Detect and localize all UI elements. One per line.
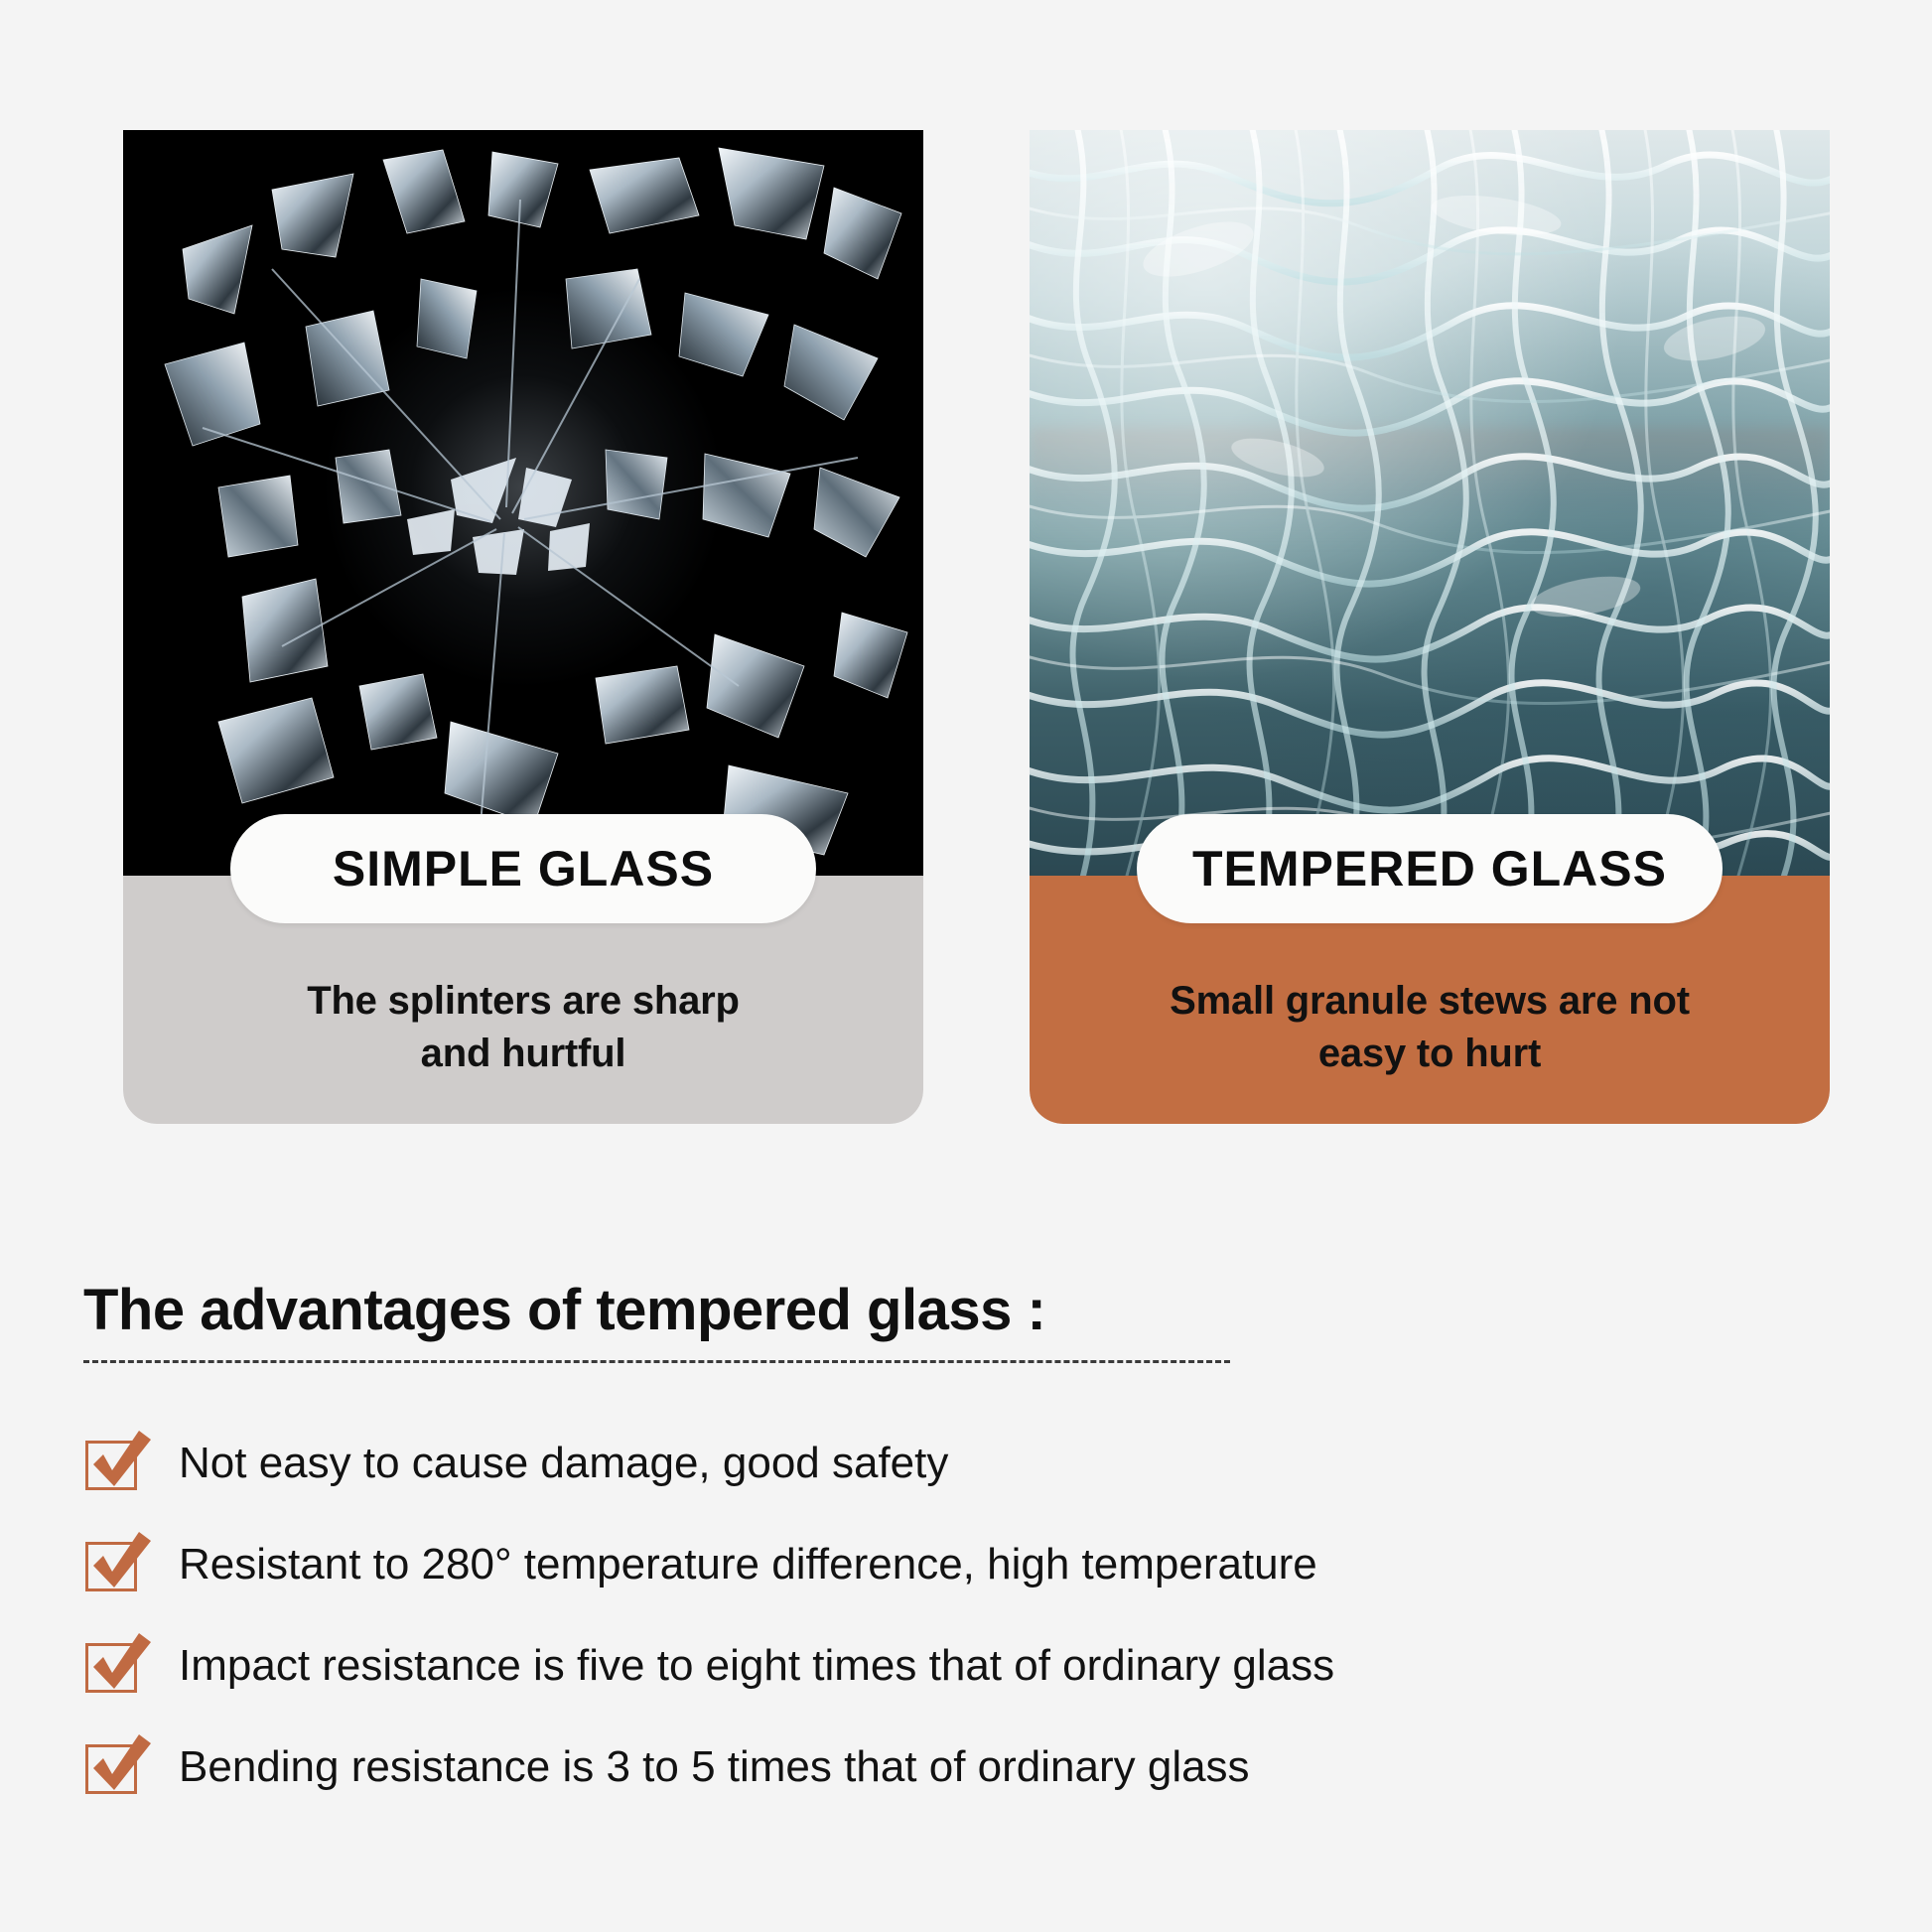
tempered-glass-label: TEMPERED GLASS [1192, 840, 1667, 897]
simple-glass-caption: The splinters are sharp and hurtful [123, 975, 923, 1080]
caption-line-2: easy to hurt [1318, 1032, 1541, 1075]
card-simple-glass[interactable]: The splinters are sharp and hurtful SIMP… [123, 130, 923, 1124]
caption-line-1: The splinters are sharp [307, 979, 740, 1023]
tempered-glass-caption: Small granule stews are not easy to hurt [1030, 975, 1830, 1080]
advantages-section: The advantages of tempered glass : Not e… [83, 1279, 1851, 1798]
advantages-title: The advantages of tempered glass : [83, 1279, 1851, 1342]
tempered-glass-label-pill[interactable]: TEMPERED GLASS [1137, 814, 1723, 923]
caption-line-2: and hurtful [421, 1032, 626, 1075]
check-mark-icon [81, 1530, 153, 1599]
checkbox-checked-icon[interactable] [83, 1738, 143, 1796]
card-tempered-glass[interactable]: Small granule stews are not easy to hurt… [1030, 130, 1830, 1124]
list-item[interactable]: Impact resistance is five to eight times… [83, 1635, 1851, 1697]
list-item[interactable]: Not easy to cause damage, good safety [83, 1433, 1851, 1494]
checkbox-checked-icon[interactable] [83, 1435, 143, 1492]
advantage-text: Bending resistance is 3 to 5 times that … [179, 1745, 1250, 1789]
list-item[interactable]: Resistant to 280° temperature difference… [83, 1534, 1851, 1595]
simple-glass-photo [123, 130, 923, 876]
advantage-text: Resistant to 280° temperature difference… [179, 1543, 1317, 1587]
advantage-text: Not easy to cause damage, good safety [179, 1442, 948, 1485]
advantages-divider [83, 1360, 1230, 1363]
advantage-text: Impact resistance is five to eight times… [179, 1644, 1334, 1688]
check-mark-icon [81, 1732, 153, 1802]
checkbox-checked-icon[interactable] [83, 1536, 143, 1593]
check-mark-icon [81, 1631, 153, 1701]
tempered-crazing-graphic [1030, 130, 1830, 876]
checkbox-checked-icon[interactable] [83, 1637, 143, 1695]
advantages-list: Not easy to cause damage, good safety Re… [83, 1433, 1851, 1798]
simple-glass-label: SIMPLE GLASS [333, 840, 714, 897]
check-mark-icon [81, 1429, 153, 1498]
list-item[interactable]: Bending resistance is 3 to 5 times that … [83, 1736, 1851, 1798]
impact-glow [315, 279, 732, 696]
comparison-cards: The splinters are sharp and hurtful SIMP… [123, 130, 1830, 1124]
simple-glass-label-pill[interactable]: SIMPLE GLASS [230, 814, 816, 923]
tempered-glass-photo [1030, 130, 1830, 876]
caption-line-1: Small granule stews are not [1170, 979, 1690, 1023]
